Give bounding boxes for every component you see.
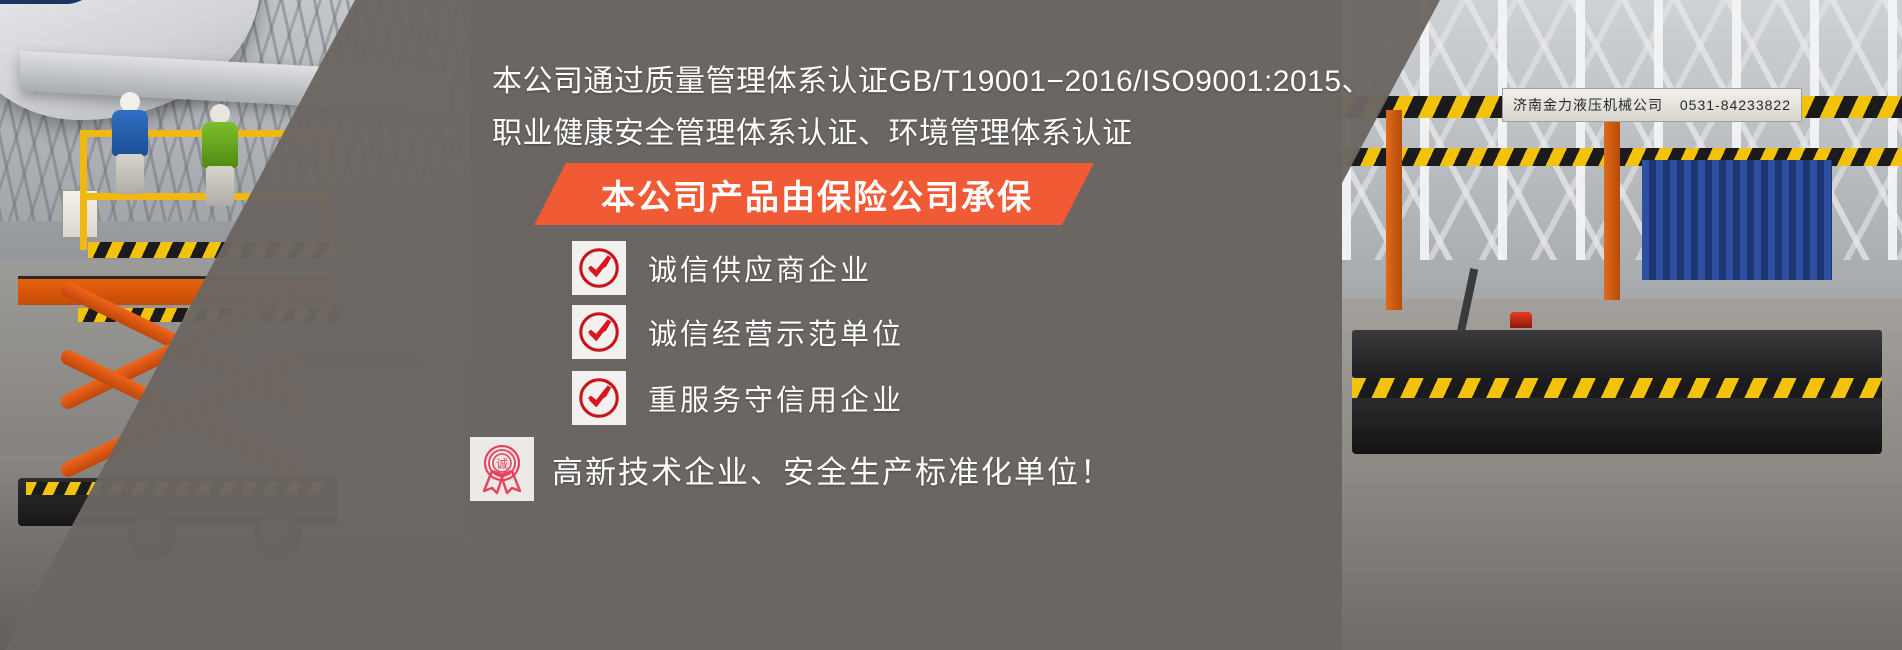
check-circle-icon bbox=[572, 241, 626, 295]
insurance-ribbon-banner: 本公司产品由保险公司承保 bbox=[534, 163, 1094, 225]
check-circle-icon bbox=[572, 371, 626, 425]
certification-line-2: 职业健康安全管理体系认证、环境管理体系认证 bbox=[492, 108, 1133, 152]
list-item-label: 诚信供应商企业 bbox=[648, 247, 872, 289]
certification-line-1: 本公司通过质量管理体系认证GB/T19001−2016/ISO9001:2015… bbox=[492, 56, 1372, 100]
banner-content: 本公司通过质量管理体系认证GB/T19001−2016/ISO9001:2015… bbox=[0, 0, 1902, 650]
promo-banner: 济南金力液压机械公司 0531-84233822 本公司通过质量管理体系认证GB… bbox=[0, 0, 1902, 650]
list-item-label: 重服务守信用企业 bbox=[648, 377, 904, 419]
list-item-label: 诚信经营示范单位 bbox=[648, 311, 904, 353]
list-item-label: 高新技术企业、安全生产标准化单位！ bbox=[552, 447, 1113, 492]
list-item-highlight: 诚 高新技术企业、安全生产标准化单位！ bbox=[470, 437, 1113, 501]
medal-ribbon-icon: 诚 bbox=[470, 437, 534, 501]
list-item: 诚信供应商企业 bbox=[572, 241, 872, 295]
list-item: 重服务守信用企业 bbox=[572, 371, 904, 425]
medal-badge-char: 诚 bbox=[496, 457, 508, 471]
insurance-ribbon-label: 本公司产品由保险公司承保 bbox=[601, 170, 1033, 219]
list-item: 诚信经营示范单位 bbox=[572, 305, 904, 359]
check-circle-icon bbox=[572, 305, 626, 359]
